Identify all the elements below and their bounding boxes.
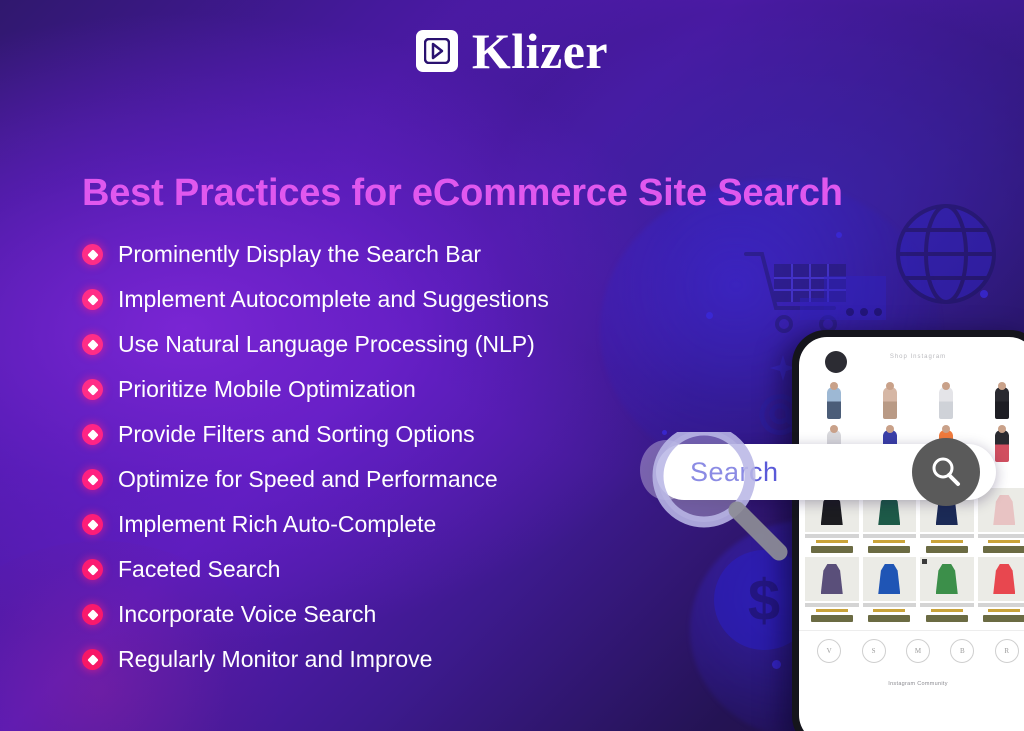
model-thumbnail[interactable] bbox=[974, 377, 1024, 419]
partner-logo: B bbox=[950, 639, 974, 663]
list-item-label: Prominently Display the Search Bar bbox=[118, 242, 481, 267]
brand-name: Klizer bbox=[472, 26, 608, 76]
list-item: Prioritize Mobile Optimization bbox=[82, 367, 702, 412]
globe-icon bbox=[892, 200, 1000, 308]
product-card[interactable] bbox=[805, 557, 859, 622]
list-item: Optimize for Speed and Performance bbox=[82, 457, 702, 502]
list-item: Regularly Monitor and Improve bbox=[82, 637, 702, 682]
diamond-bullet-icon bbox=[82, 514, 103, 535]
list-item-label: Use Natural Language Processing (NLP) bbox=[118, 332, 535, 357]
decorative-dot bbox=[706, 312, 713, 319]
list-item-label: Implement Autocomplete and Suggestions bbox=[118, 287, 549, 312]
diamond-bullet-icon bbox=[82, 649, 103, 670]
diamond-bullet-icon bbox=[82, 469, 103, 490]
brand-logo: Klizer bbox=[0, 26, 1024, 76]
svg-text:$: $ bbox=[748, 568, 780, 633]
model-thumbnail[interactable] bbox=[863, 377, 918, 419]
diamond-bullet-icon bbox=[82, 559, 103, 580]
diamond-bullet-icon bbox=[82, 289, 103, 310]
diamond-bullet-icon bbox=[82, 424, 103, 445]
partner-logo: M bbox=[906, 639, 930, 663]
search-widget: Search bbox=[636, 432, 1024, 518]
list-item: Incorporate Voice Search bbox=[82, 592, 702, 637]
search-submit-button[interactable] bbox=[912, 438, 980, 506]
list-item-label: Optimize for Speed and Performance bbox=[118, 467, 498, 492]
list-item: Implement Autocomplete and Suggestions bbox=[82, 277, 702, 322]
brand-logo-strip: V S M B R bbox=[799, 630, 1024, 671]
list-item-label: Incorporate Voice Search bbox=[118, 602, 376, 627]
product-card[interactable] bbox=[863, 557, 917, 622]
partner-logo: S bbox=[862, 639, 886, 663]
search-icon bbox=[929, 455, 963, 489]
search-placeholder-text: Search bbox=[690, 457, 779, 488]
list-item-label: Prioritize Mobile Optimization bbox=[118, 377, 416, 402]
page-title: Best Practices for eCommerce Site Search bbox=[82, 172, 982, 216]
list-item: Prominently Display the Search Bar bbox=[82, 232, 702, 277]
best-practices-list: Prominently Display the Search Bar Imple… bbox=[82, 232, 702, 682]
chevron-play-icon bbox=[416, 30, 458, 72]
diamond-bullet-icon bbox=[82, 244, 103, 265]
decorative-dot bbox=[772, 660, 781, 669]
list-item-label: Provide Filters and Sorting Options bbox=[118, 422, 475, 447]
infographic-canvas: $ Klizer Best Practices for eCommerce Si… bbox=[0, 0, 1024, 731]
list-item: Implement Rich Auto-Complete bbox=[82, 502, 702, 547]
list-item: Faceted Search bbox=[82, 547, 702, 592]
product-card[interactable] bbox=[920, 557, 974, 622]
instagram-community-caption: Instagram Community bbox=[799, 681, 1024, 687]
diamond-bullet-icon bbox=[82, 334, 103, 355]
decorative-dot bbox=[836, 232, 842, 238]
model-thumbnail[interactable] bbox=[919, 377, 974, 419]
list-item: Provide Filters and Sorting Options bbox=[82, 412, 702, 457]
phone-camera-icon bbox=[825, 351, 847, 373]
diamond-bullet-icon bbox=[82, 379, 103, 400]
partner-logo: R bbox=[995, 639, 1019, 663]
phone-mockup: Shop Instagram Shop our curated looks fr… bbox=[792, 330, 1024, 731]
list-item-label: Faceted Search bbox=[118, 557, 280, 582]
list-item-label: Regularly Monitor and Improve bbox=[118, 647, 432, 672]
phone-screen: Shop Instagram Shop our curated looks fr… bbox=[799, 337, 1024, 731]
list-item: Use Natural Language Processing (NLP) bbox=[82, 322, 702, 367]
list-item-label: Implement Rich Auto-Complete bbox=[118, 512, 436, 537]
product-card[interactable] bbox=[978, 557, 1024, 622]
decorative-dot bbox=[980, 290, 988, 298]
model-thumbnail[interactable] bbox=[807, 377, 862, 419]
partner-logo: V bbox=[817, 639, 841, 663]
diamond-bullet-icon bbox=[82, 604, 103, 625]
